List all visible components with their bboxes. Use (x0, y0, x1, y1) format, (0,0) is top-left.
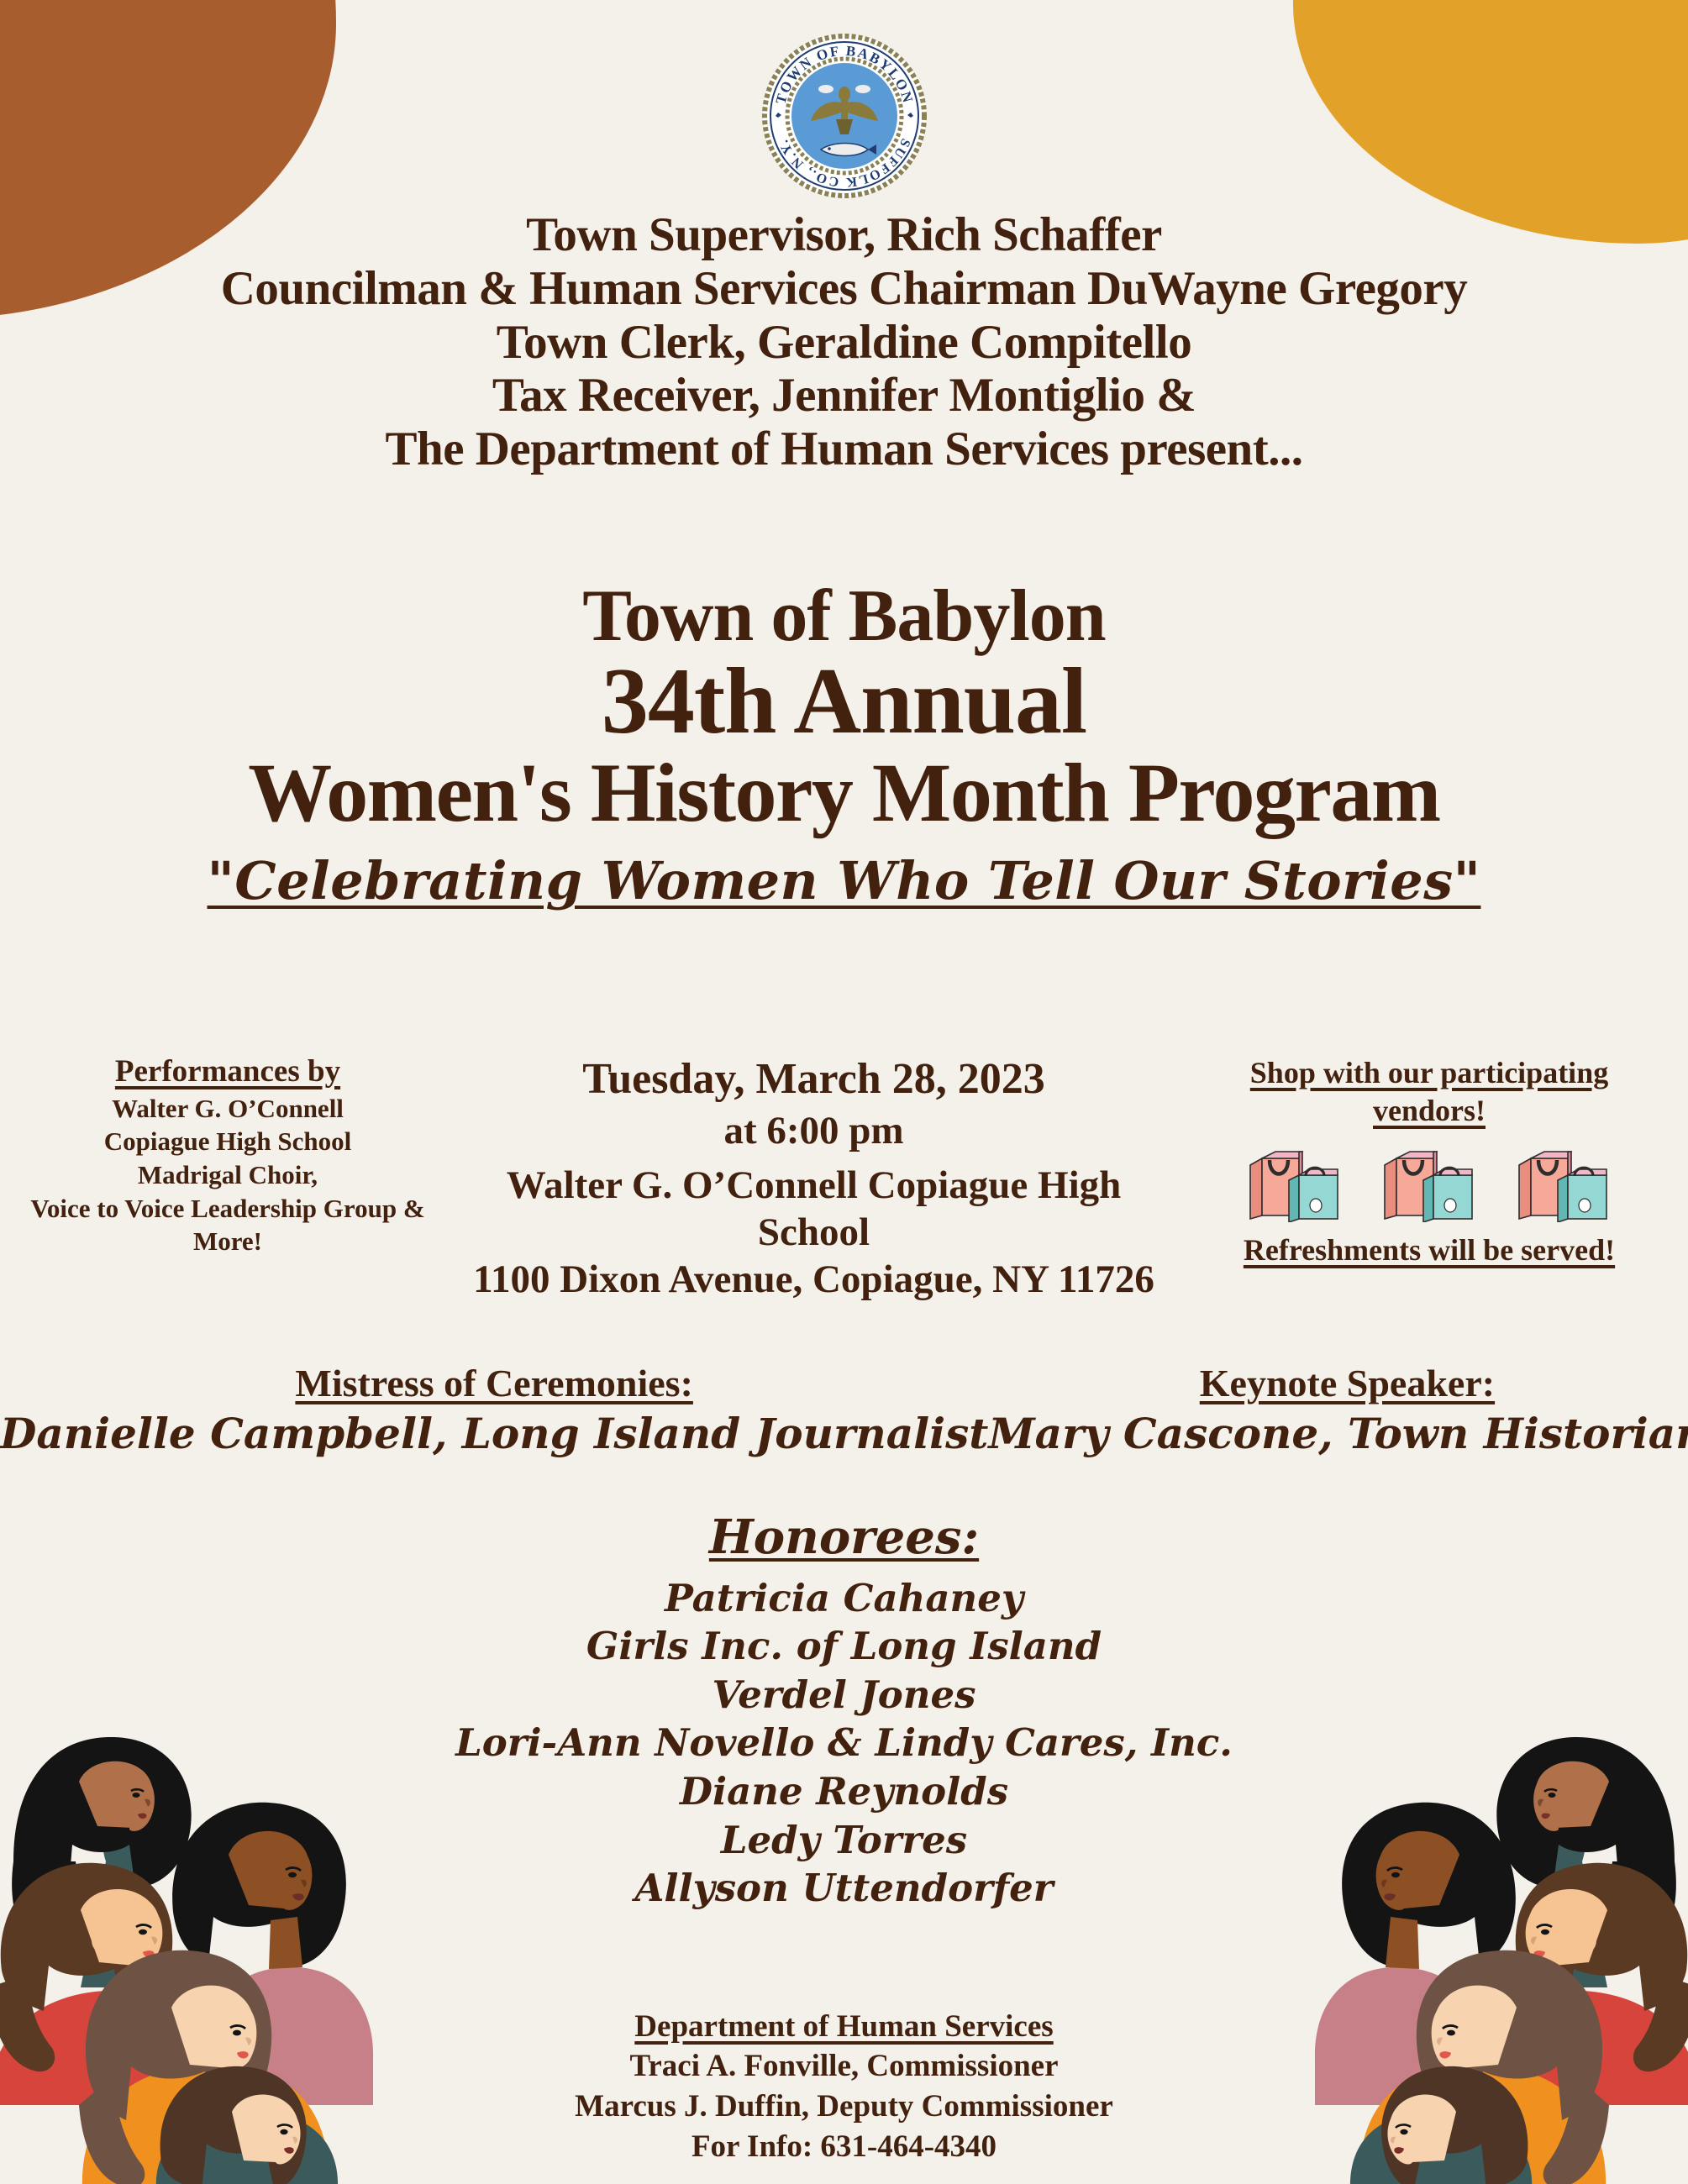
vendors-heading-line2: vendors! (1177, 1092, 1681, 1130)
roles-band: Mistress of Ceremonies: Danielle Campbel… (0, 1362, 1688, 1457)
shopping-bags-row (1177, 1142, 1681, 1222)
event-venue: Walter G. O’Connell Copiague High School (450, 1162, 1177, 1257)
list-item: Girls Inc. of Long Island (0, 1622, 1688, 1671)
keynote-name: Mary Cascone, Town Historian (988, 1410, 1688, 1457)
commissioner-name: Traci A. Fonville, Commissioner (0, 2046, 1688, 2087)
vendors-heading-line1: Shop with our participating (1177, 1054, 1681, 1092)
page-title-program: Women's History Month Program (0, 749, 1688, 837)
event-time: at 6:00 pm (450, 1107, 1177, 1154)
performances-line: More! (5, 1225, 450, 1258)
event-address: 1100 Dixon Avenue, Copiague, NY 11726 (450, 1256, 1177, 1303)
presenter-line: The Department of Human Services present… (0, 423, 1688, 476)
presenter-line: Town Clerk, Geraldine Compitello (0, 316, 1688, 370)
presenter-line: Town Supervisor, Rich Schaffer (0, 208, 1688, 262)
keynote-heading: Keynote Speaker: (988, 1362, 1688, 1405)
list-item: Diane Reynolds (0, 1767, 1688, 1816)
page-title-annual: 34th Annual (0, 654, 1688, 749)
event-details-block: Tuesday, March 28, 2023 at 6:00 pm Walte… (450, 1054, 1177, 1304)
list-item: Patricia Cahaney (0, 1574, 1688, 1623)
shopping-bag-icon (1376, 1142, 1482, 1222)
mistress-of-ceremonies-block: Mistress of Ceremonies: Danielle Campbel… (0, 1362, 988, 1457)
page-title-town: Town of Babylon (0, 580, 1688, 654)
details-band: Performances by Walter G. O’Connell Copi… (0, 1054, 1688, 1304)
event-tagline: "Celebrating Women Who Tell Our Stories" (0, 850, 1688, 911)
honorees-block: Honorees: Patricia Cahaney Girls Inc. of… (0, 1512, 1688, 1913)
honorees-heading: Honorees: (0, 1512, 1688, 1564)
performances-line: Walter G. O’Connell (5, 1092, 450, 1126)
decorative-blob-top-right (1293, 0, 1688, 244)
contact-info: For Info: 631-464-4340 (0, 2127, 1688, 2167)
presenter-line: Tax Receiver, Jennifer Montiglio & (0, 369, 1688, 423)
list-item: Lori-Ann Novello & Lindy Cares, Inc. (0, 1719, 1688, 1767)
presenters-block: Town Supervisor, Rich Schaffer Councilma… (0, 208, 1688, 476)
department-name: Department of Human Services (0, 2008, 1688, 2046)
presenter-line: Councilman & Human Services Chairman DuW… (0, 262, 1688, 316)
event-date: Tuesday, March 28, 2023 (450, 1054, 1177, 1104)
list-item: Verdel Jones (0, 1671, 1688, 1719)
honorees-list: Patricia Cahaney Girls Inc. of Long Isla… (0, 1574, 1688, 1913)
deputy-commissioner-name: Marcus J. Duffin, Deputy Commissioner (0, 2087, 1688, 2127)
town-of-babylon-seal: TOWN OF BABYLON SUFFOLK CO., N.Y. (760, 32, 928, 200)
shopping-bag-icon (1511, 1142, 1617, 1222)
refreshments-note: Refreshments will be served! (1177, 1232, 1681, 1268)
footer-block: Department of Human Services Traci A. Fo… (0, 2008, 1688, 2168)
shopping-bag-icon (1242, 1142, 1348, 1222)
list-item: Ledy Torres (0, 1816, 1688, 1865)
mc-name: Danielle Campbell, Long Island Journalis… (0, 1410, 988, 1457)
keynote-speaker-block: Keynote Speaker: Mary Cascone, Town Hist… (988, 1362, 1688, 1457)
performances-line: Copiague High School (5, 1125, 450, 1158)
list-item: Allyson Uttendorfer (0, 1864, 1688, 1913)
performances-line: Madrigal Choir, (5, 1158, 450, 1192)
title-block: Town of Babylon 34th Annual Women's Hist… (0, 580, 1688, 911)
performances-block: Performances by Walter G. O’Connell Copi… (0, 1054, 450, 1258)
performances-line: Voice to Voice Leadership Group & (5, 1192, 450, 1226)
mc-heading: Mistress of Ceremonies: (0, 1362, 988, 1405)
vendors-block: Shop with our participating vendors! (1177, 1054, 1688, 1268)
event-flyer: TOWN OF BABYLON SUFFOLK CO., N.Y. Town S… (0, 0, 1688, 2184)
performances-heading: Performances by (5, 1054, 450, 1090)
